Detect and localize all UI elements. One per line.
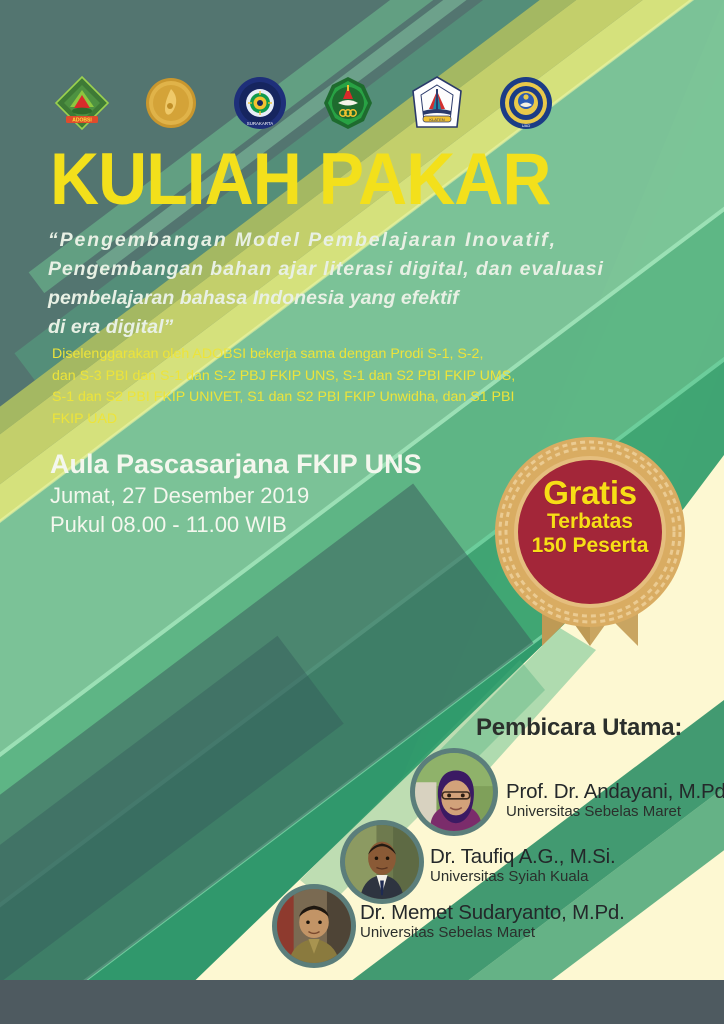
event-theme-quote: “Pengembangan Model Pembelajaran Inovati… (48, 226, 648, 341)
venue-place: Aula Pascasarjana FKIP UNS (50, 448, 422, 481)
speaker-meta: Dr. Taufiq A.G., M.Si. Universitas Syiah… (430, 846, 616, 885)
speaker-university: Universitas Syiah Kuala (430, 868, 616, 885)
speaker-university: Universitas Sebelas Maret (506, 803, 724, 820)
venue-block: Aula Pascasarjana FKIP UNS Jumat, 27 Des… (50, 448, 422, 539)
theme-line-1: “Pengembangan Model Pembelajaran Inovati… (48, 226, 648, 255)
svg-text:SURAKARTA: SURAKARTA (246, 121, 273, 126)
svg-text:ADOBSI: ADOBSI (72, 118, 92, 124)
universitas-sebelas-maret-logo (320, 75, 376, 131)
svg-text:KLATEN: KLATEN (430, 117, 445, 122)
theme-line-2: Pengembangan bahan ajar literasi digital… (48, 255, 648, 284)
universitas-muhammadiyah-surakarta-logo: SURAKARTA (232, 75, 288, 131)
theme-line-3: pembelajaran bahasa Indonesia yang efekt… (48, 284, 648, 313)
gratis-badge: Gratis Terbatas 150 Peserta (490, 432, 690, 652)
svg-text:UAD: UAD (522, 123, 531, 128)
organizer-line-2: dan S-3 PBI dan S-1 dan S-2 PBJ FKIP UNS… (52, 366, 522, 388)
speaker-photo-andayani (410, 748, 498, 836)
speaker-photo-memet (272, 884, 356, 968)
organizer-line-3: S-1 dan S2 PBI FKIP UNIVET, S1 dan S2 PB… (52, 387, 522, 409)
speaker-meta: Prof. Dr. Andayani, M.Pd. Universitas Se… (506, 781, 724, 820)
speaker-name: Prof. Dr. Andayani, M.Pd. (506, 781, 724, 803)
universitas-widya-dharma-klaten-logo: KLATEN (409, 75, 465, 131)
universitas-ahmad-dahlan-logo: UAD (498, 75, 554, 131)
speaker-meta: Dr. Memet Sudaryanto, M.Pd. Universitas … (360, 902, 625, 941)
speakers-heading: Pembicara Utama: (476, 714, 682, 742)
page-title: KULIAH PAKAR (50, 143, 551, 216)
poster-root: ADOBSI (0, 0, 724, 1024)
logo-row: ADOBSI (54, 72, 554, 134)
organizer-block: Diselenggarakan oleh ADOBSI bekerja sama… (52, 344, 522, 430)
organizer-line-1: Diselenggarakan oleh ADOBSI bekerja sama… (52, 344, 522, 366)
theme-line-4: di era digital” (48, 313, 648, 342)
bottom-bar (0, 980, 724, 1024)
adobsi-logo: ADOBSI (54, 75, 110, 131)
speaker-photo-taufiq (340, 820, 424, 904)
gold-medallion-logo (143, 75, 199, 131)
organizer-line-4: FKIP UAD (52, 409, 522, 431)
venue-time: Pukul 08.00 - 11.00 WIB (50, 510, 422, 539)
venue-date: Jumat, 27 Desember 2019 (50, 481, 422, 510)
speaker-university: Universitas Sebelas Maret (360, 924, 625, 941)
speaker-name: Dr. Memet Sudaryanto, M.Pd. (360, 902, 625, 924)
speaker-name: Dr. Taufiq A.G., M.Si. (430, 846, 616, 868)
